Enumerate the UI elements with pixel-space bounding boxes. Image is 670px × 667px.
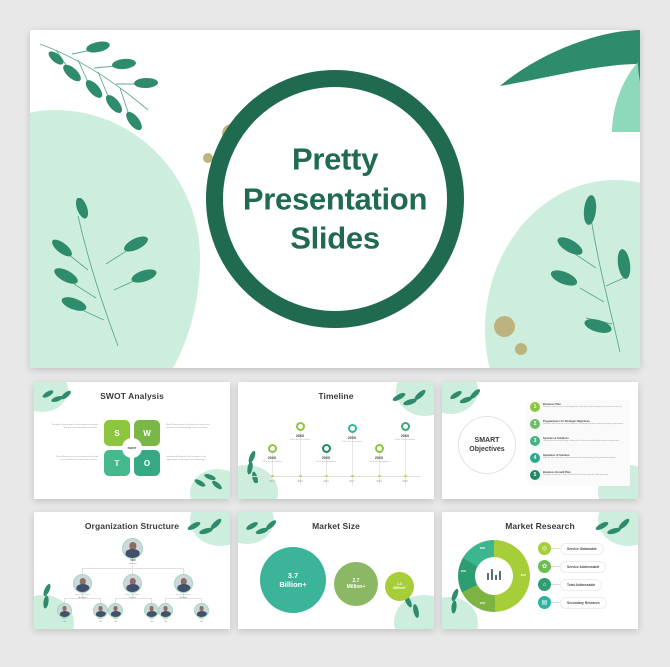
smart-text: Software development characteristics, im…: [543, 423, 623, 426]
donut-label: 20%: [480, 547, 485, 550]
toolbox-icon: ▤: [538, 596, 551, 609]
gear-icon: ✿: [538, 560, 551, 573]
avatar[interactable]: [194, 603, 209, 618]
timeline-label: 20XX Fill in the description: [283, 434, 317, 441]
org-label-staff: Name Title: [151, 618, 180, 624]
timeline-year: 20XX: [362, 456, 396, 460]
donut-center-icon: [475, 557, 513, 595]
page-title: Market Size: [238, 521, 434, 531]
smart-number: 2: [530, 419, 540, 429]
org-label-manager: Enter Your Name Director: [112, 594, 153, 600]
slide-swot-analysis[interactable]: SWOT Analysis S W T O SWOT Strength Char…: [34, 382, 230, 499]
avatar[interactable]: [123, 574, 142, 593]
target-icon: ◎: [538, 542, 551, 555]
timeline-desc: Fill in the description: [255, 461, 289, 463]
timeline-axis-year: 2019: [395, 480, 415, 483]
smart-circle: SMART Objectives: [458, 416, 516, 474]
org-label-staff: Name Title: [187, 618, 216, 624]
timeline-year: 20XX: [255, 456, 289, 460]
org-role: Title: [151, 621, 180, 624]
leaf-cluster-icon: [48, 198, 168, 348]
org-role: Title: [187, 621, 216, 624]
swot-text-threat: Threat Elements in the environment that …: [52, 456, 98, 462]
swot-text-strength: Strength Characteristics of the business…: [52, 424, 98, 430]
slide-organization-structure[interactable]: Organization Structure CEO Manager Enter…: [34, 512, 230, 629]
org-role: Director: [112, 597, 153, 600]
smart-number: 1: [530, 402, 540, 412]
leaf-swoosh-icon: [490, 30, 640, 150]
timeline-desc: Fill in the description: [335, 441, 369, 443]
hero-title-line-1: Pretty: [185, 139, 485, 179]
org-label-staff: Name Title: [101, 618, 130, 624]
avatar[interactable]: [73, 574, 92, 593]
timeline-desc: Fill in the description: [388, 439, 422, 441]
page-title: SWOT Analysis: [34, 391, 230, 401]
bubble-unit: Billion+: [279, 580, 306, 589]
org-role: Manager: [163, 597, 204, 600]
avatar[interactable]: [174, 574, 193, 593]
smart-number: 4: [530, 453, 540, 463]
timeline-label: 20XX Fill in the description: [388, 434, 422, 441]
timeline-year: 20XX: [283, 434, 317, 438]
market-bubble-3[interactable]: 1.3 Million+: [385, 572, 414, 601]
presentation-template-preview: Pretty Presentation Slides SWOT Analysis…: [0, 0, 670, 667]
org-role: Manager: [62, 597, 103, 600]
donut-label: 20%: [480, 602, 485, 605]
smart-circle-line-2: Objectives: [469, 446, 504, 453]
avatar[interactable]: [144, 603, 159, 618]
org-label-ceo: CEO Manager: [112, 560, 154, 566]
smart-text: Strategic plan to reach and long goals, …: [543, 406, 622, 409]
timeline-desc: Fill in the description: [309, 461, 343, 463]
page-title: Organization Structure: [34, 521, 230, 531]
bubble-unit: Million+: [347, 584, 366, 590]
smart-item[interactable]: 3 Systems & Solutions Comprehensive tech…: [530, 436, 628, 446]
timeline-node[interactable]: [375, 444, 384, 453]
hero-slide[interactable]: Pretty Presentation Slides: [30, 30, 640, 368]
timeline-axis-year: 2016: [316, 480, 336, 483]
timeline-label: 20XX Fill in the description: [255, 456, 289, 463]
org-role: Manager: [112, 563, 154, 566]
leaf-icon: [190, 467, 224, 493]
page-title: Timeline: [238, 391, 434, 401]
slide-timeline[interactable]: Timeline 20XX Fill in the description 20…: [238, 382, 434, 499]
timeline-axis-year: 2014: [262, 480, 282, 483]
timeline-desc: Fill in the description: [283, 439, 317, 441]
donut-chart[interactable]: 80% 20% 20% 20%: [458, 540, 530, 612]
timeline-node[interactable]: [401, 422, 410, 431]
timeline-label: 20XX Fill in the description: [362, 456, 396, 463]
hero-title-line-2: Presentation: [185, 179, 485, 219]
org-role: Title: [101, 621, 130, 624]
swot-text-opportunity: Opportunity Elements that the project or…: [166, 456, 212, 462]
smart-item[interactable]: 1 Business Plan Strategic plan to reach …: [530, 402, 628, 412]
research-label: Secondary Research: [560, 597, 607, 609]
smart-text: Smooth and seamless implementation and f…: [543, 457, 616, 460]
timeline-label: 20XX Fill in the description: [309, 456, 343, 463]
connector-line: [551, 602, 560, 603]
timeline-node[interactable]: [268, 444, 277, 453]
research-label: Total Addressable: [560, 579, 602, 591]
market-bubble-1[interactable]: 3.7 Billion+: [260, 547, 326, 613]
smart-text: Strategic roadmap to drive sustainable b…: [543, 474, 609, 477]
org-role: Title: [50, 621, 79, 624]
leaf-branch-icon: [38, 38, 168, 138]
slide-market-size[interactable]: Market Size 3.7 Billion+ 2.7 Million+ 1.…: [238, 512, 434, 629]
research-item[interactable]: ⌂ Total Addressable: [538, 578, 602, 591]
org-label-manager: Enter Your Name Manager: [62, 594, 103, 600]
leaf-branch-right-icon: [524, 190, 634, 355]
leaf-icon: [243, 449, 269, 483]
timeline-year: 20XX: [335, 436, 369, 440]
leaf-icon: [447, 386, 483, 412]
swot-text-weakness: Weak Characteristics that place the team…: [166, 424, 212, 430]
slide-smart-objectives[interactable]: SMART Objectives 1 Business Plan Strateg…: [442, 382, 638, 499]
research-item[interactable]: ✿ Service Addressable: [538, 560, 606, 573]
bubble-value: 3.7: [288, 571, 298, 580]
research-label: Service Obtainable: [560, 543, 604, 555]
org-label-staff: Name Title: [50, 618, 79, 624]
connector-line: [551, 548, 560, 549]
avatar[interactable]: [158, 603, 173, 618]
smart-item[interactable]: 4 Operation of Solution Smooth and seaml…: [530, 453, 628, 463]
avatar[interactable]: [122, 538, 143, 559]
org-label-manager: Enter Your Name Manager: [163, 594, 204, 600]
donut-label: 20%: [461, 570, 466, 573]
timeline-axis-year: 2015: [290, 480, 310, 483]
timeline-node[interactable]: [322, 444, 331, 453]
market-bubble-2[interactable]: 2.7 Million+: [334, 562, 378, 606]
avatar[interactable]: [108, 603, 123, 618]
smart-number: 5: [530, 470, 540, 480]
smart-item[interactable]: 2 Programmers for Strategic Objectives S…: [530, 419, 628, 429]
avatar[interactable]: [57, 603, 72, 618]
timeline-node[interactable]: [296, 422, 305, 431]
avatar[interactable]: [93, 603, 108, 618]
research-item[interactable]: ◎ Service Obtainable: [538, 542, 604, 555]
timeline-axis: [252, 476, 420, 477]
connector-line: [551, 584, 560, 585]
timeline-label: 20XX Fill in the description: [335, 436, 369, 443]
timeline-axis-year: 2018: [369, 480, 389, 483]
swot-center-label: SWOT: [122, 438, 142, 458]
timeline-year: 20XX: [388, 434, 422, 438]
smart-number: 3: [530, 436, 540, 446]
accent-dot: [494, 316, 515, 337]
slide-market-research[interactable]: Market Research 80% 20% 20% 20% ◎ Servic…: [442, 512, 638, 629]
hero-title-line-3: Slides: [185, 219, 485, 259]
accent-dot: [515, 343, 527, 355]
timeline-year: 20XX: [309, 456, 343, 460]
smart-item[interactable]: 5 Business Growth Plan Strategic roadmap…: [530, 470, 628, 480]
shield-icon: ⌂: [538, 578, 551, 591]
connector-line: [551, 566, 560, 567]
timeline-desc: Fill in the description: [362, 461, 396, 463]
hero-title: Pretty Presentation Slides: [185, 139, 485, 258]
page-title: Market Research: [442, 521, 638, 531]
smart-text: Comprehensive technology solutions for e…: [543, 440, 620, 443]
research-item[interactable]: ▤ Secondary Research: [538, 596, 607, 609]
smart-circle-line-1: SMART: [475, 437, 500, 444]
research-label: Service Addressable: [560, 561, 606, 573]
timeline-axis-year: 2017: [342, 480, 362, 483]
timeline-node[interactable]: [348, 424, 357, 433]
donut-label: 80%: [521, 574, 526, 577]
bubble-unit: Million+: [393, 586, 405, 590]
swot-diagram: S W T O SWOT: [104, 420, 160, 476]
